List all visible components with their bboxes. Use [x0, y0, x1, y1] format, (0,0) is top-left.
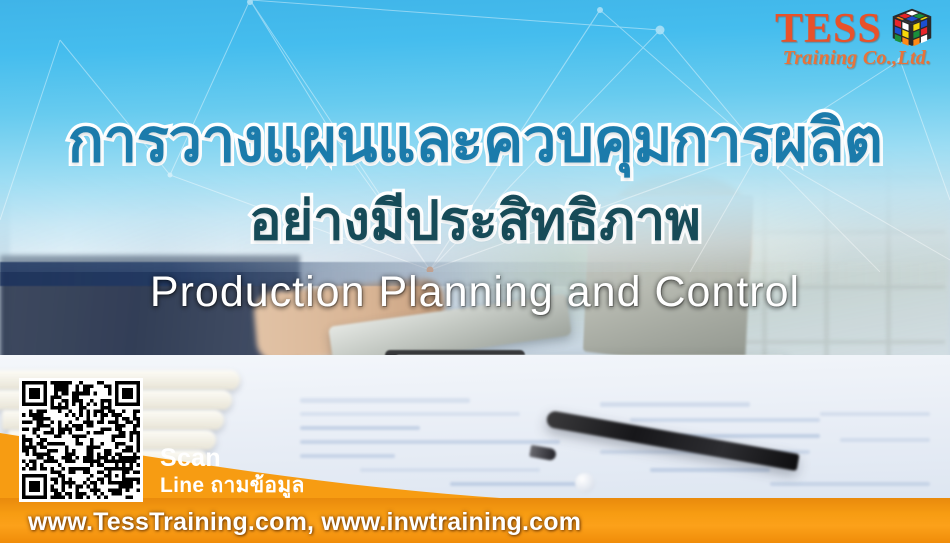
- horizontal-tint-band: [0, 262, 950, 286]
- footer-urls[interactable]: www.TessTraining.com, www.inwtraining.co…: [28, 508, 581, 537]
- tess-logo[interactable]: TESS: [767, 3, 942, 85]
- scan-badge-text: Scan Line ถามข้อมูล: [160, 446, 305, 496]
- logo-wordmark: TESS: [775, 5, 882, 53]
- scan-label-secondary: Line ถามข้อมูล: [160, 475, 305, 496]
- training-course-banner: การวางแผนและควบคุมการผลิต อย่างมีประสิทธ…: [0, 0, 950, 543]
- scan-label-primary: Scan: [160, 446, 305, 471]
- qr-code-icon[interactable]: [19, 378, 143, 502]
- logo-tagline: Training Co.,Ltd.: [777, 47, 937, 70]
